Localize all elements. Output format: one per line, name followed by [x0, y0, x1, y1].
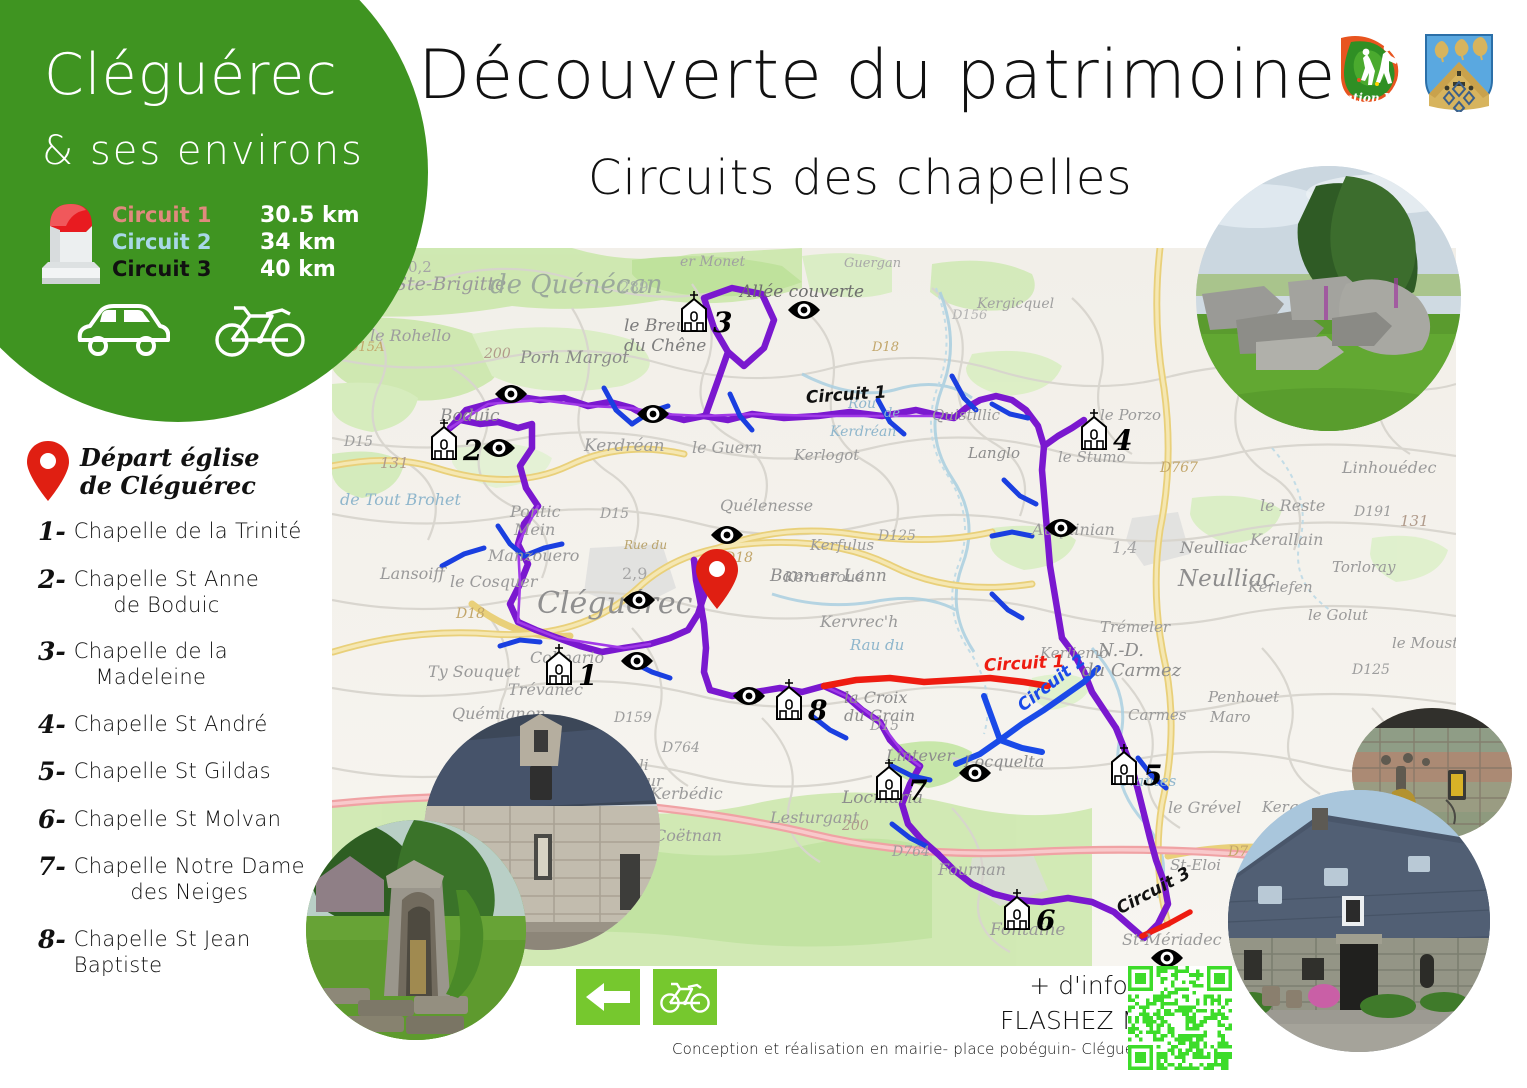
circuit-3-distance: 40 km	[260, 257, 336, 282]
vehicle-icons	[74, 300, 306, 358]
car-icon	[74, 300, 170, 358]
map-place-label: N.-D.	[1098, 640, 1144, 661]
circuit-1-distance: 30.5 km	[260, 203, 360, 228]
eye-viewpoint-icon[interactable]	[787, 300, 821, 325]
chapel-marker-5[interactable]: 5	[1107, 743, 1162, 790]
chapel-list-item[interactable]: 1-Chapelle de la Trinité	[22, 518, 338, 546]
eye-viewpoint-icon[interactable]	[732, 686, 766, 711]
chapel-list-item[interactable]: 5-Chapelle St Gildas	[22, 758, 338, 786]
map-place-label: Porh Margot	[520, 348, 629, 368]
chapel-marker-number: 8	[808, 697, 827, 725]
chapel-marker-3[interactable]: 3	[677, 290, 732, 337]
map-place-label: le Guern	[692, 438, 762, 457]
chapel-list: 1-Chapelle de la Trinité2-Chapelle St An…	[22, 518, 338, 998]
map-place-label: er Monet	[680, 254, 745, 270]
map-place-label: Torloray	[1332, 558, 1395, 576]
church-icon	[677, 290, 711, 337]
depart-label: Départ église de Cléguérec	[80, 440, 260, 502]
map-place-label: 131	[380, 454, 409, 472]
chapel-marker-number: 5	[1143, 762, 1162, 790]
chapel-number: 2-	[38, 566, 66, 594]
map-place-label: Quistillic	[932, 406, 1000, 424]
map-place-label: Linhouédec	[1342, 458, 1436, 477]
chapel-number: 5-	[38, 758, 66, 786]
map-place-label: D125	[878, 528, 916, 544]
map-place-label: 131	[1400, 512, 1429, 530]
milestone-borne-icon	[38, 192, 104, 290]
map-place-label: Langlo	[968, 444, 1020, 462]
map-place-label: Maro	[1210, 708, 1251, 726]
qr-code[interactable]	[1128, 966, 1232, 1070]
chapel-list-item[interactable]: 2-Chapelle St Annede Boduic	[22, 566, 338, 619]
chapel-number: 7-	[38, 853, 66, 881]
map-place-label: D764	[662, 740, 700, 756]
chapel-marker-number: 3	[713, 309, 732, 337]
poster-root: Ste-Brigittede Quénécan289Allée couverte…	[0, 0, 1527, 1088]
map-place-label: 200	[484, 346, 511, 362]
map-place-label: du Carmez	[1082, 660, 1181, 681]
depart-block: Départ église de Cléguérec	[26, 440, 326, 502]
map-place-label: le Mousto	[1392, 634, 1456, 652]
circuit-3-name: Circuit 3	[112, 257, 260, 281]
chapel-marker-number: 2	[463, 437, 482, 465]
map-place-label: Kerdréan	[830, 424, 896, 440]
photo-dolmen-megalith	[1196, 166, 1461, 431]
chapel-label: Chapelle Notre Damedes Neiges	[74, 853, 305, 906]
map-place-label: D18	[872, 340, 899, 355]
church-icon	[427, 418, 461, 465]
station-verte-logo[interactable]: Station Verte	[1339, 32, 1411, 108]
map-place-label: Kerlogot	[794, 446, 859, 464]
chapel-list-item[interactable]: 7-Chapelle Notre Damedes Neiges	[22, 853, 338, 906]
map-place-label: la Croix	[844, 688, 907, 707]
chapel-label: Chapelle St Jean Baptiste	[74, 926, 338, 979]
chapel-list-item[interactable]: 3-Chapelle de laMadeleine	[22, 638, 338, 691]
chapel-list-item[interactable]: 8-Chapelle St Jean Baptiste	[22, 926, 338, 979]
chapel-marker-4[interactable]: 4	[1077, 408, 1132, 455]
eye-viewpoint-icon[interactable]	[1150, 948, 1184, 966]
map-place-label: Rue du	[624, 538, 667, 552]
footer-buttons	[576, 969, 717, 1025]
left-arrow-icon	[584, 980, 632, 1014]
map-place-label: D15	[344, 434, 373, 450]
map-place-label: D15	[870, 718, 899, 734]
map-place-label: D125	[1352, 662, 1390, 678]
chapel-label: Chapelle St Molvan	[74, 806, 281, 832]
map-place-label: de Tout Brohet	[340, 490, 461, 509]
map-place-label: D159	[614, 710, 652, 726]
map-place-label: D156	[952, 308, 987, 323]
circuit-legend-row: Circuit 2 34 km	[112, 230, 360, 257]
map-place-label: D191	[1354, 504, 1392, 520]
map-place-label: Coëtnan	[654, 826, 722, 845]
chapel-marker-number: 7	[908, 777, 927, 805]
photo-stone-house	[1228, 790, 1490, 1052]
map-place-label: Kerallain	[1250, 530, 1323, 549]
chapel-marker-8[interactable]: 8	[772, 678, 827, 725]
eye-viewpoint-icon[interactable]	[636, 404, 670, 429]
map-place-label: Neulliac	[1180, 538, 1248, 557]
map-place-label: 1,4	[1112, 538, 1137, 557]
map-place-label: le Reste	[1260, 496, 1325, 515]
bicycle-button[interactable]	[653, 969, 717, 1025]
circuit-legend: Circuit 1 30.5 km Circuit 2 34 km Circui…	[112, 203, 360, 284]
eye-viewpoint-icon[interactable]	[482, 438, 516, 463]
map-place-label: Quélenesse	[720, 496, 813, 515]
chapel-marker-6[interactable]: 6	[1000, 888, 1055, 935]
chapel-number: 3-	[38, 638, 66, 666]
bicycle-icon	[660, 980, 710, 1014]
map-place-label: D18	[456, 606, 485, 622]
chapel-label: Chapelle St Gildas	[74, 758, 271, 784]
map-place-label: St-Mériadec	[1122, 930, 1222, 949]
eye-viewpoint-icon[interactable]	[494, 384, 528, 409]
chapel-marker-number: 6	[1036, 907, 1055, 935]
map-place-label: le Golut	[1308, 606, 1368, 624]
map-place-label: Lansoiff	[380, 564, 445, 583]
map-place-label: Rau du	[850, 636, 904, 654]
chapel-marker-7[interactable]: 7	[872, 758, 927, 805]
bicycle-icon	[214, 300, 306, 358]
church-icon	[772, 678, 806, 725]
map-place-label: Allée couverte	[740, 282, 864, 302]
brand-title: Cléguérec	[44, 42, 338, 108]
map-start-pin[interactable]	[694, 548, 740, 615]
church-icon	[542, 643, 576, 690]
chapel-marker-1[interactable]: 1	[542, 643, 597, 690]
brand-subtitle: & ses environs	[42, 128, 364, 174]
map-place-label: le Cosquer	[450, 572, 537, 591]
map-place-label: Kergicquel	[977, 296, 1054, 312]
chapel-marker-2[interactable]: 2	[427, 418, 482, 465]
map-place-label: 2,9	[622, 564, 647, 583]
map-place-label: Penhouet	[1208, 688, 1279, 706]
church-icon	[1077, 408, 1111, 455]
church-icon	[1107, 743, 1141, 790]
svg-text:Station Verte: Station Verte	[1339, 91, 1411, 105]
chapel-number: 4-	[38, 711, 66, 739]
header-logos: Station Verte	[1339, 32, 1495, 112]
circuit-legend-row: Circuit 1 30.5 km	[112, 203, 360, 230]
map-place-label: Cléguérec	[537, 586, 692, 621]
chapel-label: Chapelle de laMadeleine	[74, 638, 228, 691]
map-place-label: Trémeler	[1100, 618, 1170, 636]
circuit-2-distance: 34 km	[260, 230, 336, 255]
map-place-label: Kerlefen	[1248, 578, 1313, 596]
map-place-label: le Grével	[1168, 798, 1241, 817]
chapel-number: 8-	[38, 926, 66, 954]
map-place-label: Kervrec'h	[820, 612, 898, 631]
map-place-label: Mein	[514, 520, 555, 539]
chapel-list-item[interactable]: 6-Chapelle St Molvan	[22, 806, 338, 834]
map-place-label: Kerbédic	[650, 784, 723, 803]
chapel-label: Chapelle St Annede Boduic	[74, 566, 259, 619]
eye-viewpoint-icon[interactable]	[620, 651, 654, 676]
map-place-label: 289	[620, 278, 649, 296]
depart-line-1: Départ église	[80, 444, 260, 472]
chapel-number: 1-	[38, 518, 66, 546]
back-arrow-button[interactable]	[576, 969, 640, 1025]
chapel-label: Chapelle de la Trinité	[74, 518, 302, 544]
map-place-label: Manzouero	[488, 546, 579, 565]
eye-viewpoint-icon[interactable]	[1044, 518, 1078, 543]
map-place-label: Bann er Lann	[770, 566, 887, 586]
chapel-marker-number: 1	[578, 662, 597, 690]
map-place-label: 200	[842, 818, 869, 834]
photo-chapelle-fountain	[306, 820, 526, 1040]
map-place-label: Pontic	[510, 502, 561, 521]
page-subtitle: Circuits des chapelles	[588, 150, 1132, 206]
cleguerec-coat-of-arms-logo[interactable]	[1423, 32, 1495, 112]
chapel-marker-number: 4	[1113, 427, 1132, 455]
map-place-label: de	[884, 406, 900, 421]
chapel-list-item[interactable]: 4-Chapelle St André	[22, 711, 338, 739]
map-pin-icon[interactable]	[694, 548, 740, 610]
chapel-number: 6-	[38, 806, 66, 834]
church-icon	[1000, 888, 1034, 935]
map-place-label: Guergan	[844, 256, 901, 271]
map-place-label: D764	[892, 844, 930, 860]
eye-viewpoint-icon[interactable]	[622, 590, 656, 615]
map-place-label: du Chêne	[624, 336, 706, 356]
circuit-2-name: Circuit 2	[112, 230, 260, 254]
map-place-label: Carmes	[1128, 706, 1186, 724]
circuit-legend-row: Circuit 3 40 km	[112, 257, 360, 284]
map-pin-icon	[26, 440, 70, 502]
map-place-label: Fournan	[938, 860, 1006, 879]
page-title: Découverte du patrimoine	[418, 36, 1336, 115]
eye-viewpoint-icon[interactable]	[958, 763, 992, 788]
map-place-label: D767	[1160, 460, 1198, 476]
map-place-label: Kerfulus	[810, 536, 874, 554]
chapel-label: Chapelle St André	[74, 711, 268, 737]
circuit-1-name: Circuit 1	[112, 203, 260, 227]
church-icon	[872, 758, 906, 805]
map-place-label: Kerdréan	[584, 436, 665, 456]
eye-viewpoint-icon[interactable]	[710, 525, 744, 550]
map-place-label: D15	[600, 506, 629, 522]
map-place-label: Ty Souquet	[428, 662, 520, 681]
depart-line-2: de Cléguérec	[80, 472, 260, 500]
